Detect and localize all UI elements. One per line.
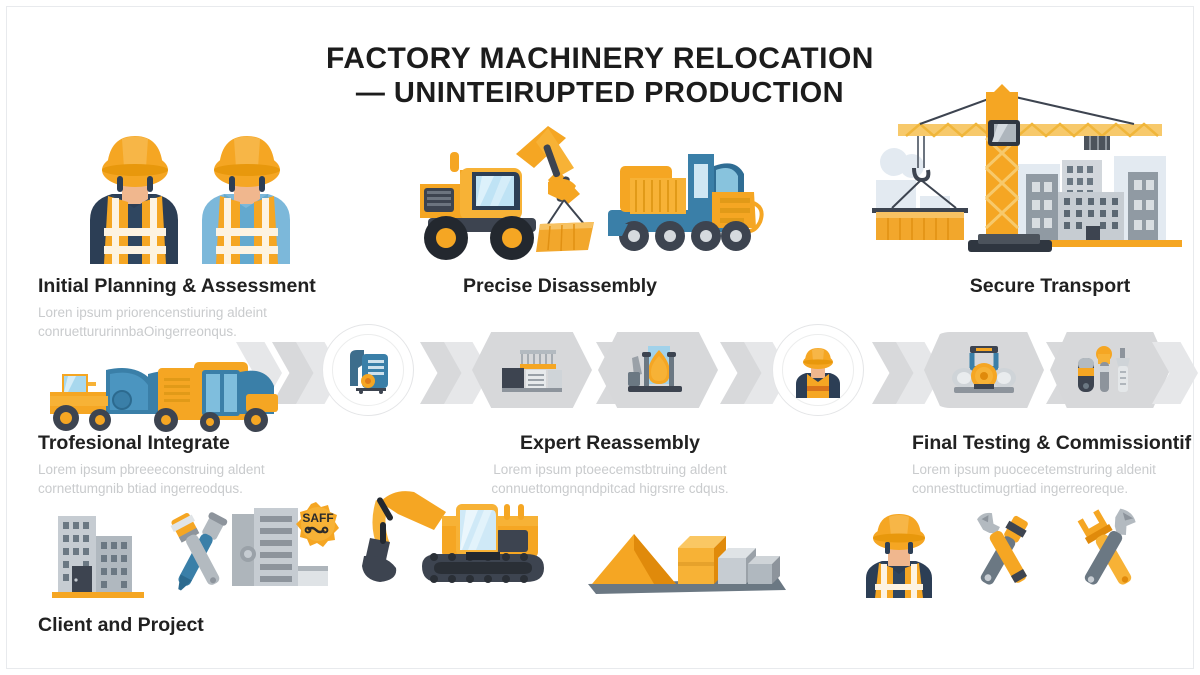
tool-set-icon: [1076, 342, 1138, 398]
step-secure-transport: Secure Transport: [900, 275, 1200, 298]
industrial-truck-illustration: [604, 136, 784, 264]
worker-portrait-icon: [860, 506, 938, 598]
turbine-machine-icon: [950, 344, 1018, 396]
step-client-and-project: Client and Project: [38, 614, 338, 637]
facility-with-safety-badge-illustration: SAFF: [230, 500, 342, 598]
step-desc-line2: cornettumgnib btiad ingerreodqus.: [38, 479, 358, 498]
step-desc-line1: Lorem ipsum puocecetemstruring aldenit: [912, 460, 1200, 479]
two-construction-workers-illustration: [60, 112, 300, 264]
infographic-canvas: FACTORY MACHINERY RELOCATION — UNINTEIRU…: [0, 0, 1200, 675]
tower-crane-illustration: [862, 84, 1192, 264]
step-title: Trofesional Integrate: [38, 432, 358, 455]
blue-industrial-machine-icon: [348, 348, 392, 394]
safety-badge-text: SAFF: [302, 511, 333, 525]
step-desc-line1: Lorem ipsum pbreeeconstruing aldent: [38, 460, 358, 479]
wheeled-excavator-illustration: [398, 110, 608, 265]
crates-and-blocks-illustration: [582, 506, 792, 596]
step-title: Client and Project: [38, 614, 338, 637]
step-title: Final Testing & Commissiontif: [912, 432, 1200, 455]
worker-avatar-icon: [792, 344, 844, 398]
step-title: Expert Reassembly: [450, 432, 770, 455]
step-desc-line2: connesttuctimugrtiad ingerreoreque.: [912, 479, 1200, 498]
step-title: Secure Transport: [900, 275, 1200, 298]
step-title: Precise Disassembly: [400, 275, 720, 298]
press-machine-icon: [626, 344, 686, 396]
tractor-with-machinery-illustration: [44, 352, 294, 436]
step-desc-line1: Lorem ipsum ptoeecemstbtruing aldent: [450, 460, 770, 479]
office-building-icon: [52, 508, 152, 598]
wrench-and-spanner-icon: [958, 504, 1050, 596]
step-precise-disassembly: Precise Disassembly: [400, 275, 720, 298]
step-final-testing: Final Testing & Commissiontif Lorem ipsu…: [912, 432, 1200, 498]
pipe-wrench-and-adjustable-wrench-icon: [1062, 504, 1154, 596]
step-description: Lorem ipsum pbreeeconstruing aldent corn…: [38, 460, 358, 498]
tracked-excavator-illustration: [356, 482, 606, 598]
assembly-line-icon: [500, 348, 564, 394]
title-line-1: FACTORY MACHINERY RELOCATION: [0, 42, 1200, 77]
step-trofesional-integrate: Trofesional Integrate Lorem ipsum pbreee…: [38, 432, 358, 498]
step-title: Initial Planning & Assessment: [38, 275, 338, 298]
step-description: Lorem ipsum puocecetemstruring aldenit c…: [912, 460, 1200, 498]
